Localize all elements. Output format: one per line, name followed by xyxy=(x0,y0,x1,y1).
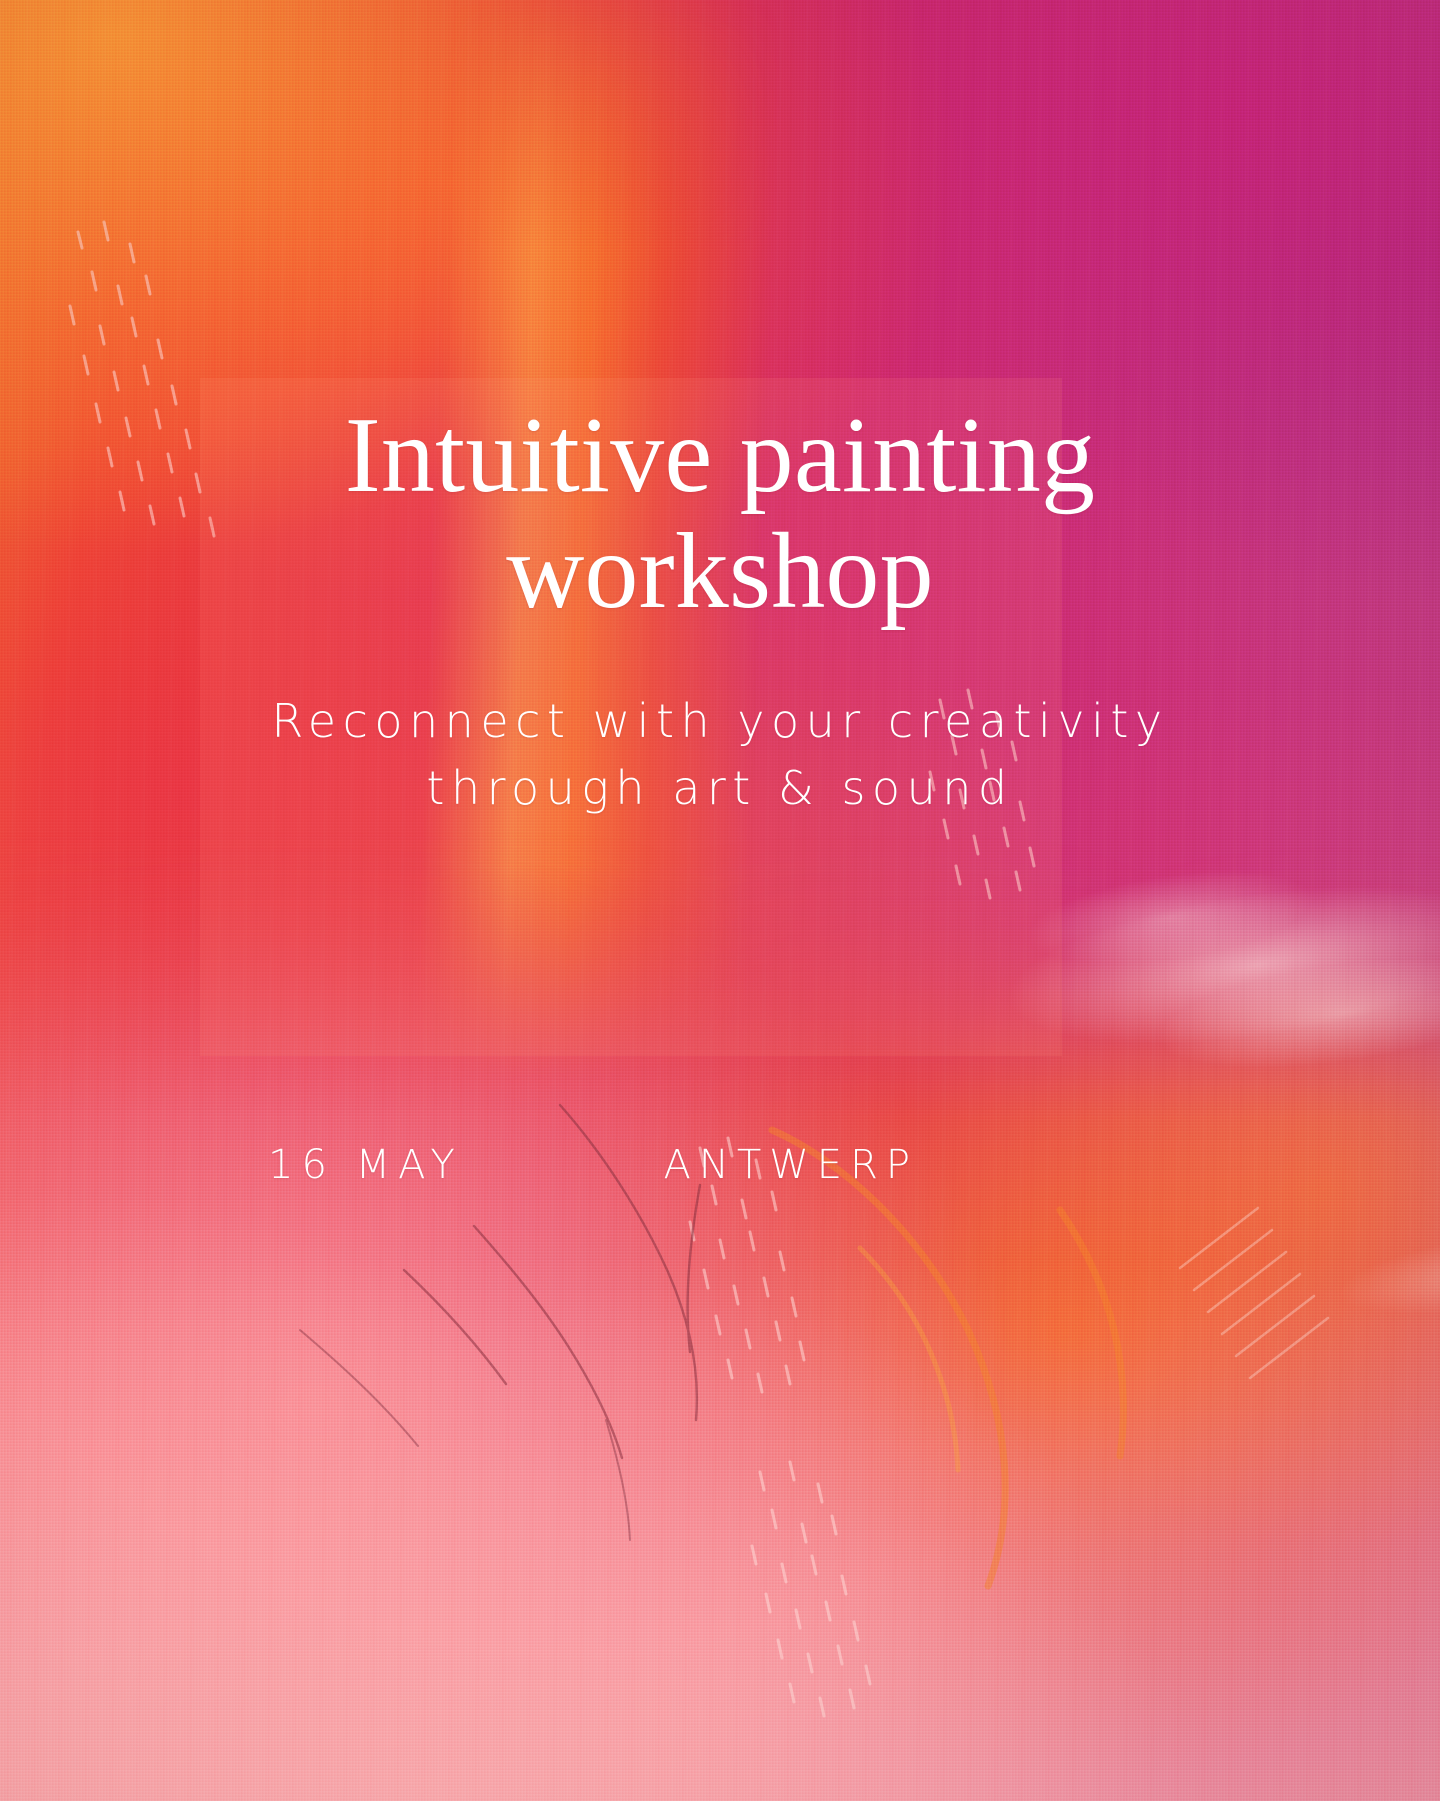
poster-title-line-2: workshop xyxy=(506,512,934,631)
poster-content: Intuitive paintingworkshop Reconnect wit… xyxy=(0,0,1440,1801)
poster-subtitle-line-3: sound xyxy=(841,761,1013,815)
event-location: ANTWERP xyxy=(664,1142,918,1188)
poster-meta-row: 16 MAY ANTWERP xyxy=(268,1142,918,1188)
poster-canvas: Intuitive paintingworkshop Reconnect wit… xyxy=(0,0,1440,1801)
poster-title: Intuitive paintingworkshop xyxy=(0,398,1440,629)
poster-title-line-1: Intuitive painting xyxy=(345,396,1095,515)
poster-subtitle-line-1: Reconnect with your xyxy=(271,694,866,748)
poster-subtitle: Reconnect with your creativity through a… xyxy=(0,688,1440,822)
event-date: 16 MAY xyxy=(268,1142,463,1188)
